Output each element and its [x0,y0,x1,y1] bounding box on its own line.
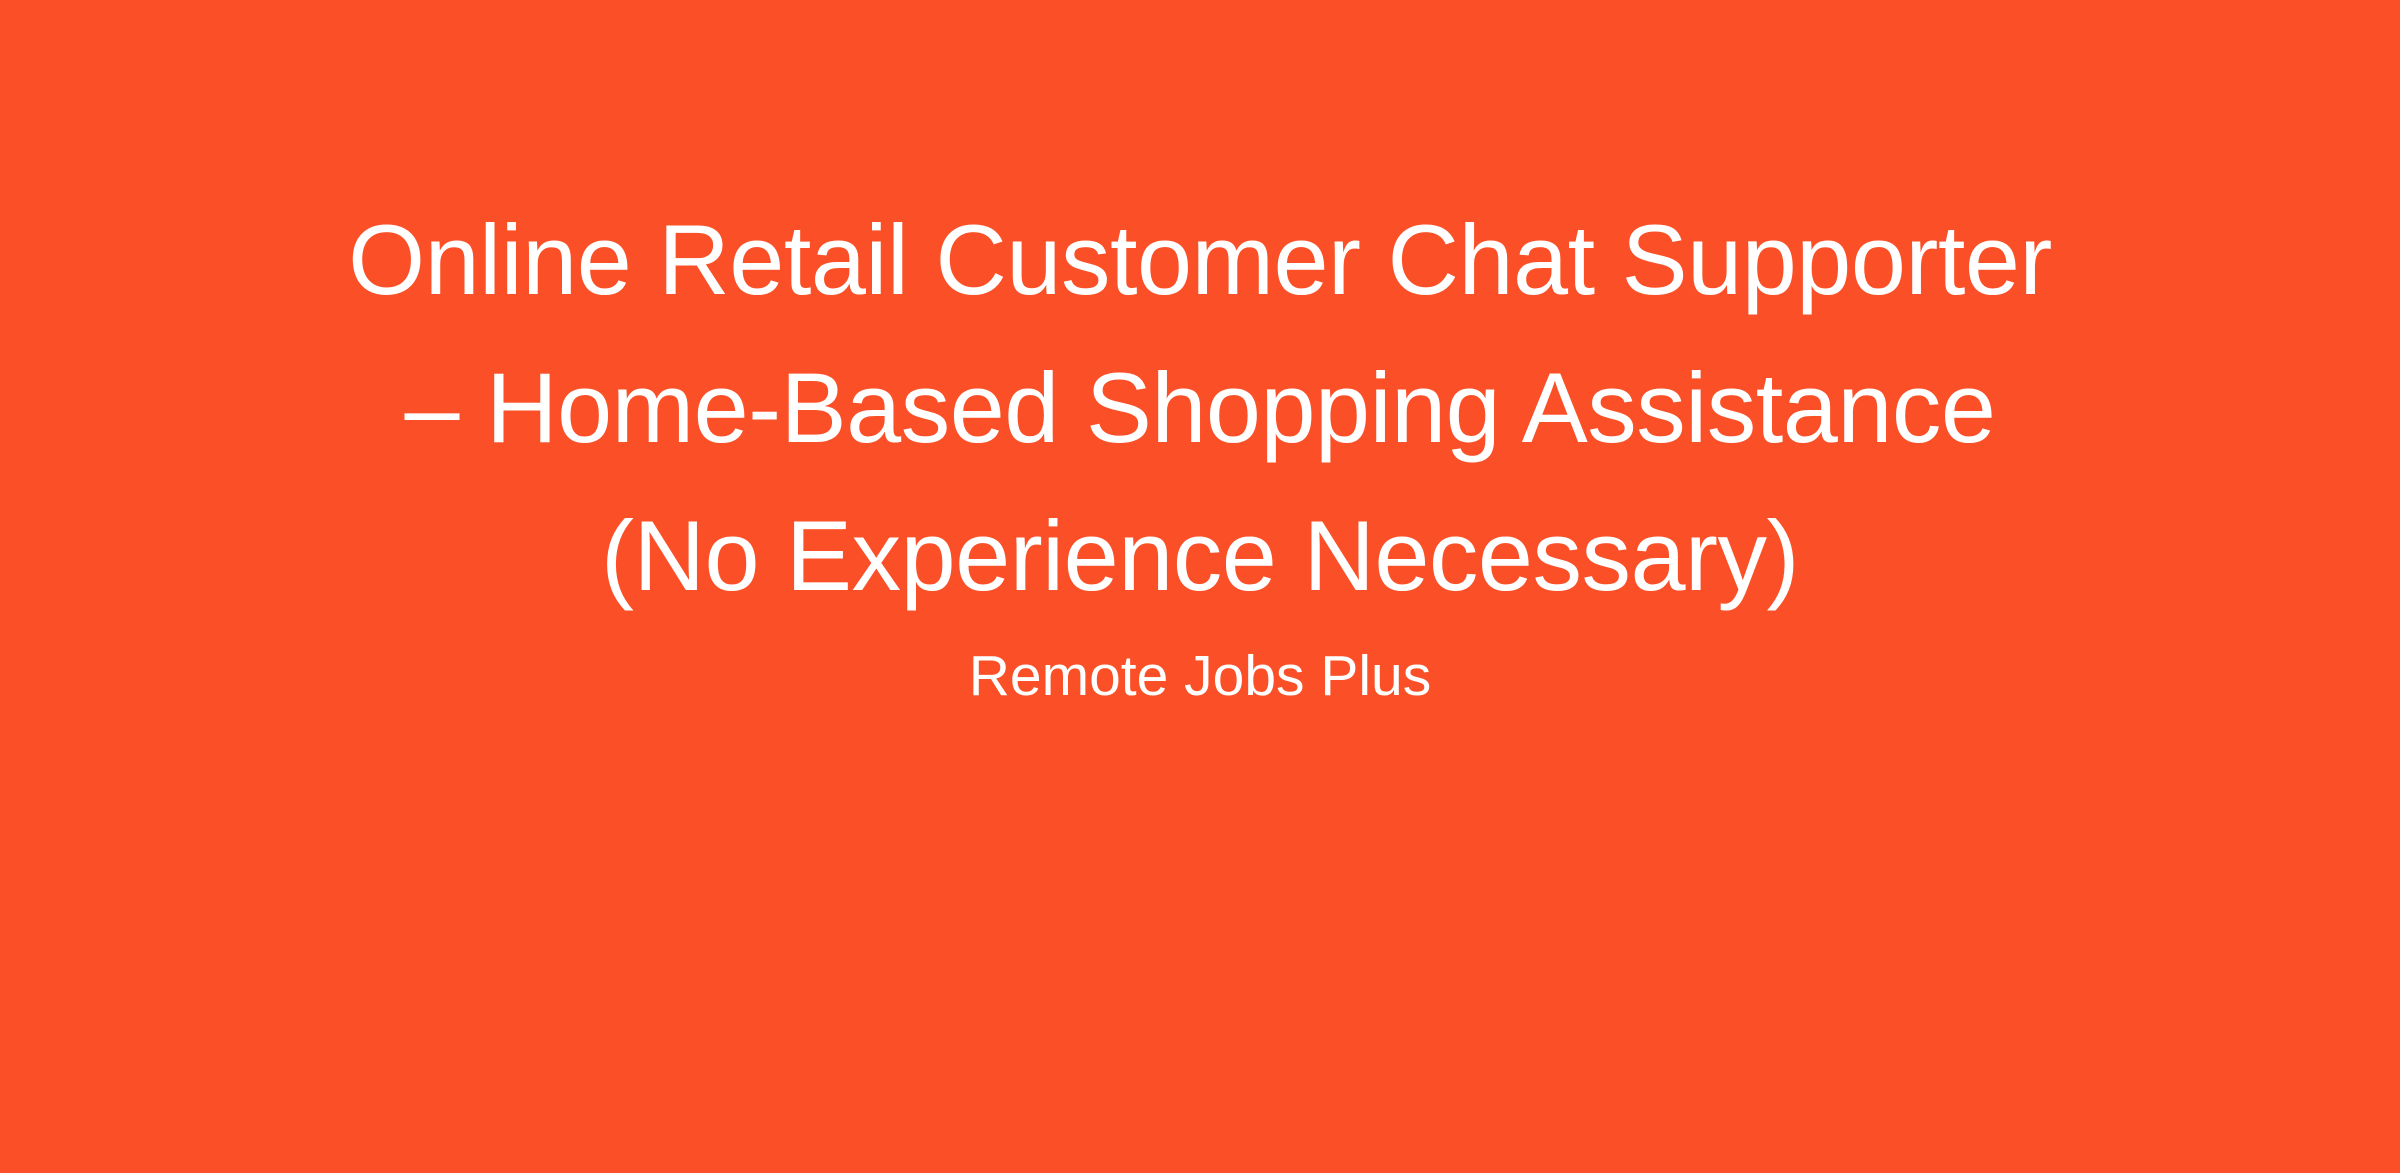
site-name-subtitle: Remote Jobs Plus [969,640,1432,712]
page-title: Online Retail Customer Chat Supporter – … [320,186,2080,630]
social-share-card: Online Retail Customer Chat Supporter – … [0,0,2400,1173]
card-content: Online Retail Customer Chat Supporter – … [0,186,2400,712]
